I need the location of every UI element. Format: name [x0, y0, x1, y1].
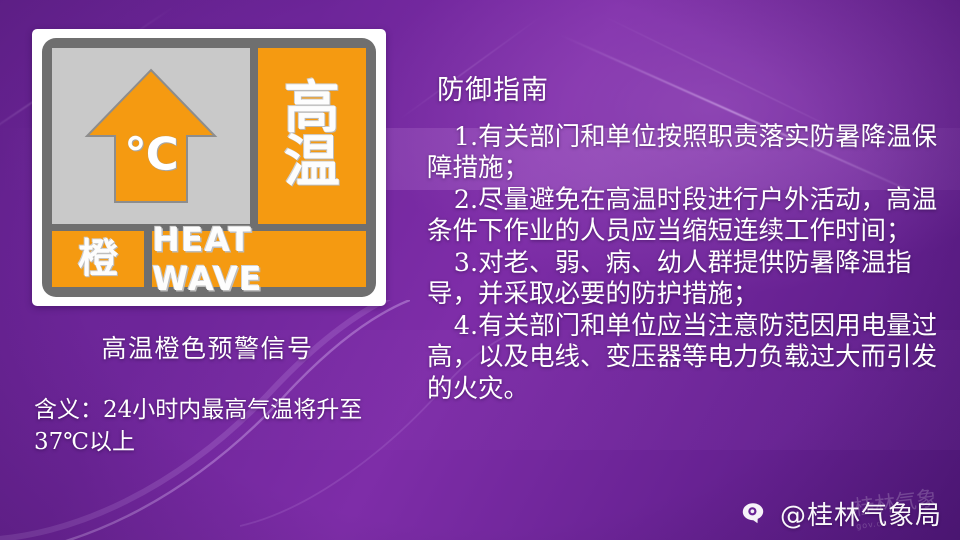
guide-list: 1.有关部门和单位按照职责落实防暑降温保障措施； 2.尽量避免在高温时段进行户外…	[427, 122, 955, 405]
meaning-label: 含义：	[34, 397, 103, 423]
weibo-icon	[740, 501, 766, 527]
slide-stage: ℃ 高温 橙 HEAT WAVE 高温橙色预警信号 含义：	[0, 0, 960, 540]
watermark-handle: @桂林气象局	[780, 495, 942, 532]
heat-wave-label: HEAT WAVE	[152, 220, 366, 298]
guide-item: 4.有关部门和单位应当注意防范因用电量过高，以及电线、变压器等电力负载过大而引发…	[427, 311, 955, 405]
guide-title: 防御指南	[437, 68, 549, 107]
guide-item: 1.有关部门和单位按照职责落实防暑降温保障措施；	[427, 122, 955, 185]
gaowen-panel: 高温	[258, 48, 366, 224]
sign-inner-frame: ℃ 高温 橙 HEAT WAVE	[42, 38, 376, 297]
celsius-icon: ℃	[124, 131, 178, 176]
level-label: 橙	[78, 239, 118, 279]
sign-bottom-row: 橙 HEAT WAVE	[52, 231, 366, 287]
level-panel: 橙	[52, 231, 144, 287]
thermometer-panel: ℃	[52, 48, 250, 224]
guide-item: 2.尽量避免在高温时段进行户外活动，高温条件下作业的人员应当缩短连续工作时间；	[427, 185, 955, 248]
meaning-block: 含义：24小时内最高气温将升至37℃以上	[34, 395, 402, 458]
left-column: ℃ 高温 橙 HEAT WAVE 高温橙色预警信号 含义：	[0, 0, 415, 540]
sign-top-row: ℃ 高温	[52, 48, 366, 224]
signal-title: 高温橙色预警信号	[0, 329, 415, 365]
heat-wave-warning-sign: ℃ 高温 橙 HEAT WAVE	[32, 29, 386, 306]
right-column: 防御指南 1.有关部门和单位按照职责落实防暑降温保障措施； 2.尽量避免在高温时…	[415, 0, 960, 540]
guide-item: 3.对老、弱、病、幼人群提供防暑降温指导，并采取必要的防护措施；	[427, 248, 955, 311]
heat-wave-panel: HEAT WAVE	[152, 231, 366, 287]
gaowen-label: 高温	[258, 82, 366, 190]
watermark: @桂林气象局	[740, 495, 942, 532]
